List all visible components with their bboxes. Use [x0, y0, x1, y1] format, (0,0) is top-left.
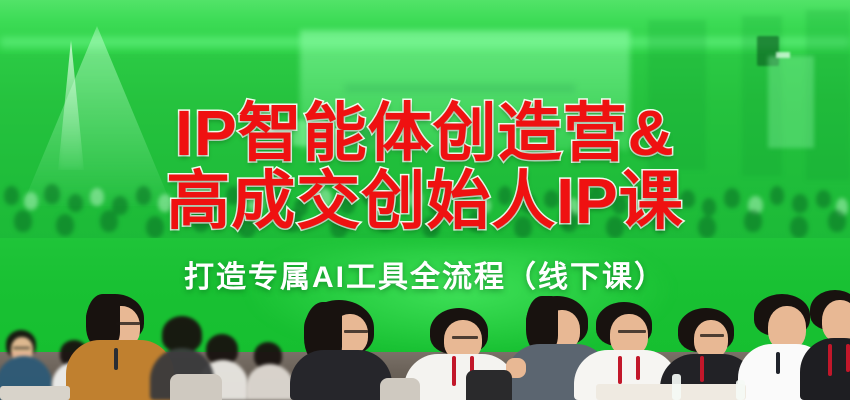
title-line-1: IP智能体创造营& [0, 101, 850, 165]
event-promo-banner: IP智能体创造营& 高成交创始人IP课 打造专属AI工具全流程（线下课） [0, 0, 850, 400]
title-line-2: 高成交创始人IP课 [0, 169, 850, 233]
headline-group: IP智能体创造营& 高成交创始人IP课 打造专属AI工具全流程（线下课） [0, 0, 850, 400]
subtitle: 打造专属AI工具全流程（线下课） [0, 252, 850, 296]
